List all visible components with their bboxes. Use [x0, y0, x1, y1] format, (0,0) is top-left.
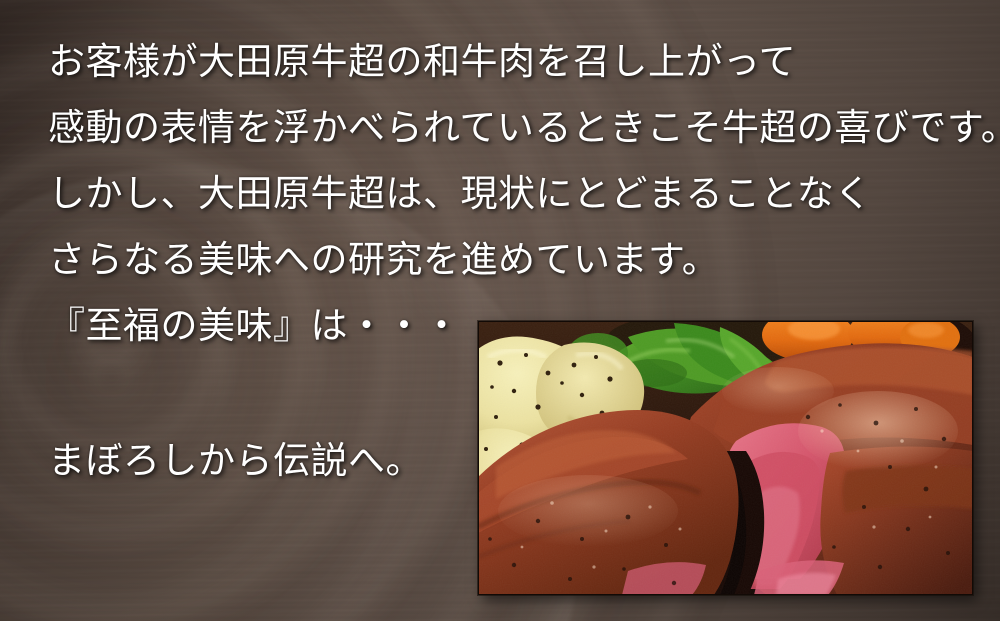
wagyu-steak-illustration: [478, 321, 973, 595]
message-line-1: お客様が大田原牛超の和牛肉を召し上がって: [48, 30, 978, 96]
message-line-2: 感動の表情を浮かべられているときこそ牛超の喜びです。: [48, 96, 978, 162]
wagyu-steak-photo: [478, 321, 973, 595]
message-line-4: さらなる美味への研究を進めています。: [48, 228, 978, 294]
message-line-3: しかし、大田原牛超は、現状にとどまることなく: [48, 162, 978, 228]
slide-canvas: お客様が大田原牛超の和牛肉を召し上がって 感動の表情を浮かべられているときこそ牛…: [0, 0, 1000, 621]
